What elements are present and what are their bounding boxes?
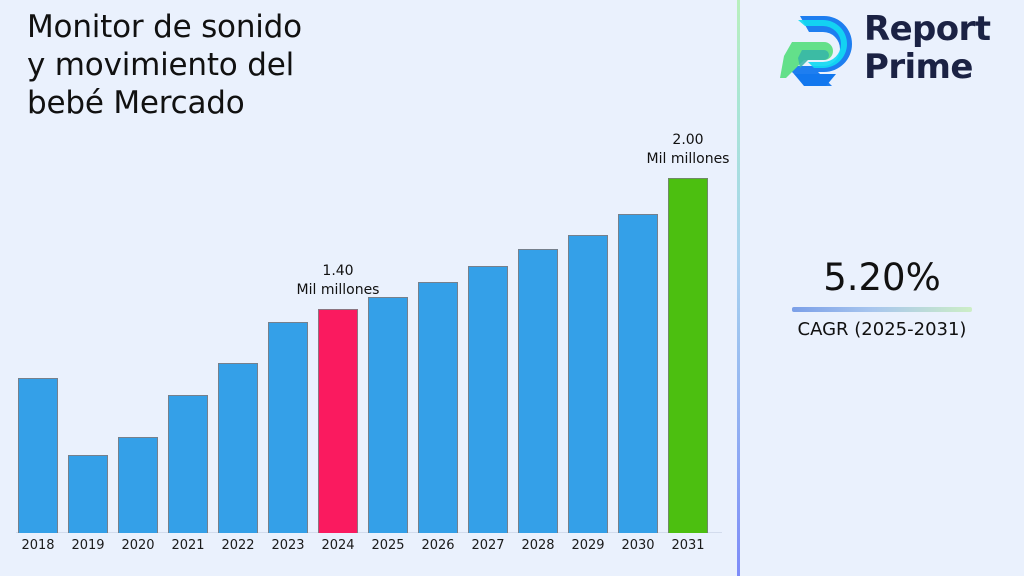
bar-rect-2022[interactable]: [218, 363, 258, 533]
bar-rect-2029[interactable]: [568, 235, 608, 533]
bar-rect-2031[interactable]: [668, 178, 708, 533]
cagr-divider-rule: [792, 307, 972, 312]
bar-rect-2019[interactable]: [68, 455, 108, 533]
report-prime-logo-mark: [778, 12, 856, 88]
bar-rect-2021[interactable]: [168, 395, 208, 533]
cagr-block: 5.20% CAGR (2025-2031): [740, 255, 1024, 342]
chart-panel: Monitor de sonido y movimiento del bebé …: [0, 0, 738, 576]
bar-chart: 2018201920202021202220232024202520262027…: [0, 0, 738, 576]
bar-rect-2026[interactable]: [418, 282, 458, 533]
infographic-root: Monitor de sonido y movimiento del bebé …: [0, 0, 1024, 576]
cagr-value: 5.20%: [740, 255, 1024, 301]
bar-rect-2024[interactable]: [318, 309, 358, 533]
report-prime-logo: Report Prime: [778, 10, 1010, 92]
bar-rect-2030[interactable]: [618, 214, 658, 533]
logo-wordmark: Report Prime: [864, 10, 990, 86]
bar-rect-2018[interactable]: [18, 378, 58, 533]
bar-rect-2028[interactable]: [518, 249, 558, 533]
brand-panel: Report Prime 5.20% CAGR (2025-2031): [740, 0, 1024, 576]
x-tick-2031: 2031: [658, 538, 718, 553]
value-label-2024: 1.40 Mil millones: [258, 262, 418, 300]
bar-rect-2023[interactable]: [268, 322, 308, 533]
cagr-caption: CAGR (2025-2031): [740, 318, 1024, 342]
bar-rect-2020[interactable]: [118, 437, 158, 533]
bar-rect-2025[interactable]: [368, 297, 408, 533]
bar-rect-2027[interactable]: [468, 266, 508, 533]
